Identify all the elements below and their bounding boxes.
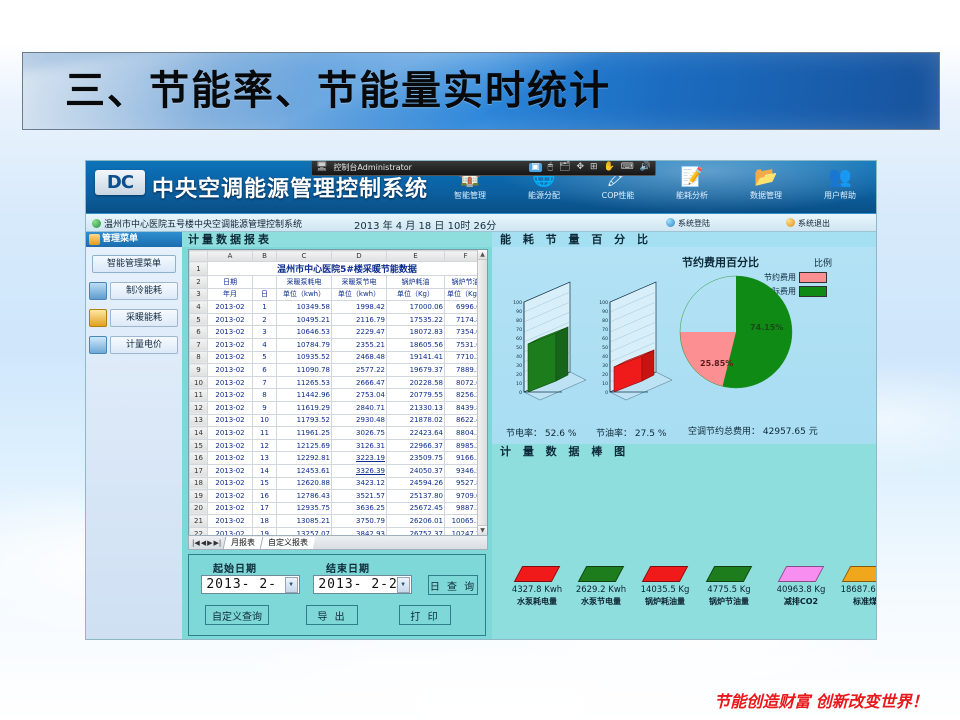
- row-header: 2: [190, 276, 208, 289]
- cell-boiler-oil[interactable]: 18072.83: [387, 326, 445, 339]
- bar-marker-icon: [578, 566, 625, 582]
- folder-globe-icon: 📂: [734, 164, 798, 190]
- svg-text:70: 70: [602, 327, 608, 333]
- table-row: 132013-021011793.522930.4821878.028622.4…: [190, 414, 487, 427]
- cell-boiler-oil[interactable]: 20779.55: [387, 389, 445, 402]
- svg-text:50: 50: [602, 345, 608, 351]
- header-cell: 单位（kwh）: [332, 288, 387, 301]
- cell-pump-power[interactable]: 11961.25: [277, 427, 332, 440]
- cell-pump-power[interactable]: 12935.75: [277, 502, 332, 515]
- cell-date[interactable]: 2013-02: [208, 439, 253, 452]
- move-icon[interactable]: ⊞: [590, 163, 598, 172]
- spreadsheet[interactable]: A B C D E F 1 温州市中心医院5#楼采暖节能数据 2: [188, 249, 488, 536]
- header-cell: 日: [253, 288, 277, 301]
- cell-date[interactable]: 2013-02: [208, 452, 253, 465]
- scroll-down-icon[interactable]: ▼: [478, 525, 487, 535]
- cell-pump-saving[interactable]: 2930.48: [332, 414, 387, 427]
- table-row: 82013-02510935.522468.4819141.417710.23: [190, 351, 487, 364]
- cell-day[interactable]: 7: [253, 376, 277, 389]
- nav-label: 用户帮助: [824, 191, 856, 200]
- nav-label: 能源分配: [528, 191, 560, 200]
- header-cell: 日期: [208, 276, 253, 289]
- percent-sign: %: [658, 429, 667, 439]
- query-controls: 起始日期 结束日期 2013- 2- 1 ▼ 2013- 2-28 ▼ 日 查 …: [188, 554, 486, 636]
- row-header: 6: [190, 326, 208, 339]
- header-cell: 采暖泵耗电: [277, 276, 332, 289]
- svg-text:80: 80: [602, 318, 608, 324]
- day-query-button[interactable]: 日 查 询: [428, 575, 478, 595]
- svg-text:100: 100: [599, 300, 608, 306]
- cell-date[interactable]: 2013-02: [208, 313, 253, 326]
- total-saving-unit: 元: [809, 427, 818, 437]
- svg-text:90: 90: [516, 309, 522, 315]
- cell-date[interactable]: 2013-02: [208, 414, 253, 427]
- start-date-input[interactable]: 2013- 2- 1 ▼: [201, 575, 300, 594]
- app-header: DC 中央空调能源管理控制系统 🏠 智能管理 🌐 能源分配 🖊 COP性能 📝: [86, 161, 876, 214]
- svg-text:30: 30: [516, 363, 522, 369]
- cell-boiler-oil[interactable]: 23509.75: [387, 452, 445, 465]
- cell-boiler-oil[interactable]: 22966.37: [387, 439, 445, 452]
- energy-percent-panel: 能 耗 节 量 百 分 比: [492, 232, 876, 445]
- cell-pump-saving[interactable]: 2753.04: [332, 389, 387, 402]
- sidebar-item-heating-consumption[interactable]: 采暖能耗: [89, 309, 178, 327]
- row-header: 10: [190, 376, 208, 389]
- console-toolbar[interactable]: 🖥 控制台Administrator ▣ 🖱 🗂 ✥ ⊞ ✋ ⌨ 🔊: [311, 160, 656, 176]
- cell-day[interactable]: 3: [253, 326, 277, 339]
- sidebar-item-label: 计量电价: [110, 336, 178, 354]
- cursor-icon[interactable]: ✥: [576, 163, 584, 172]
- column-header-row: A B C D E F: [190, 251, 487, 262]
- spreadsheet-rows: 42013-02110349.581998.4217000.066996.635…: [190, 301, 487, 536]
- row-header: 20: [190, 502, 208, 515]
- last-sheet-icon[interactable]: ▶|: [214, 539, 222, 547]
- table-row: 182013-021512620.883423.1224594.269527.8…: [190, 477, 487, 490]
- cell-day[interactable]: 16: [253, 490, 277, 503]
- table-row: 92013-02611090.782577.2219679.377889.55: [190, 364, 487, 377]
- keyboard-icon[interactable]: ⌨: [621, 163, 634, 172]
- header-cell: 年月: [208, 288, 253, 301]
- cell-pump-saving[interactable]: 3423.12: [332, 477, 387, 490]
- metric-6: 18687.6 Kg标准煤: [822, 566, 877, 607]
- system-logout-button[interactable]: 系统退出: [786, 218, 830, 229]
- cell-date[interactable]: 2013-02: [208, 490, 253, 503]
- cell-date[interactable]: 2013-02: [208, 515, 253, 528]
- row-header: 13: [190, 414, 208, 427]
- cell-boiler-oil[interactable]: 17000.06: [387, 301, 445, 314]
- next-sheet-icon[interactable]: ▶: [207, 539, 212, 547]
- charts-column: 能 耗 节 量 百 分 比: [492, 232, 876, 640]
- cell-day[interactable]: 8: [253, 389, 277, 402]
- corner-cell: [190, 251, 208, 262]
- row-header: 3: [190, 288, 208, 301]
- application-window: DC 中央空调能源管理控制系统 🏠 智能管理 🌐 能源分配 🖊 COP性能 📝: [85, 160, 877, 640]
- row-header: 14: [190, 427, 208, 440]
- cell-pump-saving[interactable]: 3126.31: [332, 439, 387, 452]
- bar-chart-electric-saving: 01020 304050 607080 90100: [506, 280, 586, 425]
- col-header-c[interactable]: C: [277, 251, 332, 262]
- start-date-label: 起始日期: [213, 560, 257, 575]
- cell-pump-saving[interactable]: 2840.71: [332, 401, 387, 414]
- cell-pump-power[interactable]: 10495.21: [277, 313, 332, 326]
- cell-date[interactable]: 2013-02: [208, 401, 253, 414]
- first-sheet-icon[interactable]: |◀: [192, 539, 200, 547]
- svg-text:50: 50: [516, 345, 522, 351]
- energy-percent-title: 能 耗 节 量 百 分 比: [492, 232, 876, 247]
- cell-pump-power[interactable]: 13085.21: [277, 515, 332, 528]
- table-row: 62013-02310646.532229.4718072.837354.04: [190, 326, 487, 339]
- pie-chart-svg: 74.15% 25.85%: [678, 274, 794, 390]
- cell-boiler-oil[interactable]: 24594.26: [387, 477, 445, 490]
- header-cell: [253, 276, 277, 289]
- sheet-tab-custom[interactable]: 自定义报表: [260, 537, 316, 549]
- footer-slogan: 节能创造财富 创新改变世界！: [690, 688, 952, 712]
- bar-marker-icon: [642, 566, 689, 582]
- cell-boiler-oil[interactable]: 17535.22: [387, 313, 445, 326]
- percent-sign: %: [568, 429, 577, 439]
- sidebar-item-intelligent-menu[interactable]: 智能管理菜单: [92, 255, 176, 273]
- cell-pump-saving[interactable]: 1998.42: [332, 301, 387, 314]
- bar-marker-icon: [706, 566, 753, 582]
- pie-value-actual: 74.15%: [750, 323, 783, 332]
- cell-date[interactable]: 2013-02: [208, 477, 253, 490]
- cell-pump-saving[interactable]: 3326.39: [332, 464, 387, 477]
- cell-boiler-oil[interactable]: 25137.80: [387, 490, 445, 503]
- cell-date[interactable]: 2013-02: [208, 351, 253, 364]
- sidebar-header: 管理菜单: [86, 232, 182, 247]
- cell-pump-power[interactable]: 10784.79: [277, 338, 332, 351]
- svg-text:100: 100: [513, 300, 522, 306]
- cell-pump-power[interactable]: 11265.53: [277, 376, 332, 389]
- cell-pump-saving[interactable]: 3750.79: [332, 515, 387, 528]
- users-icon: 👥: [808, 164, 872, 190]
- sidebar: 管理菜单 智能管理菜单 制冷能耗 采暖能耗 计量电价: [86, 232, 183, 640]
- cell-boiler-oil[interactable]: 21330.13: [387, 401, 445, 414]
- end-date-label: 结束日期: [326, 560, 370, 575]
- report-title: 计量数据报表: [182, 232, 492, 247]
- monitor-icon: 🖥: [316, 163, 327, 172]
- cell-pump-saving[interactable]: 2229.47: [332, 326, 387, 339]
- cell-date[interactable]: 2013-02: [208, 338, 253, 351]
- svg-text:80: 80: [516, 318, 522, 324]
- cell-pump-saving[interactable]: 3636.25: [332, 502, 387, 515]
- cell-boiler-oil[interactable]: 22423.64: [387, 427, 445, 440]
- slide-background: 三、节能率、节能量实时统计 DC 中央空调能源管理控制系统 🏠 智能管理 🌐 能…: [0, 0, 960, 720]
- row-header: 11: [190, 389, 208, 402]
- svg-text:40: 40: [516, 354, 522, 360]
- prev-sheet-icon[interactable]: ◀: [201, 539, 206, 547]
- cell-pump-power[interactable]: 10935.52: [277, 351, 332, 364]
- cell-pump-power[interactable]: 12453.61: [277, 464, 332, 477]
- bar-marker-icon: [842, 566, 877, 582]
- cell-day[interactable]: 1: [253, 301, 277, 314]
- bar-chart-electric-svg: 01020 304050 607080 90100: [506, 280, 586, 425]
- cell-date[interactable]: 2013-02: [208, 326, 253, 339]
- volume-icon[interactable]: 🔊: [640, 163, 651, 172]
- col-header-d[interactable]: D: [332, 251, 387, 262]
- cell-day[interactable]: 17: [253, 502, 277, 515]
- header-cell: 采暖泵节电: [332, 276, 387, 289]
- row-header: 21: [190, 515, 208, 528]
- nav-label: 数据管理: [750, 191, 782, 200]
- sheet-title-cell: 温州市中心医院5#楼采暖节能数据: [208, 262, 487, 276]
- row-header: 16: [190, 452, 208, 465]
- svg-text:60: 60: [602, 336, 608, 342]
- spreadsheet-grid: A B C D E F 1 温州市中心医院5#楼采暖节能数据 2: [189, 250, 487, 536]
- cell-boiler-oil[interactable]: 20228.58: [387, 376, 445, 389]
- svg-text:20: 20: [516, 372, 522, 378]
- cell-day[interactable]: 9: [253, 401, 277, 414]
- cell-pump-saving[interactable]: 2116.79: [332, 313, 387, 326]
- table-row: 1 温州市中心医院5#楼采暖节能数据: [190, 262, 487, 276]
- app-body: 管理菜单 智能管理菜单 制冷能耗 采暖能耗 计量电价 计量数据报表: [86, 232, 876, 640]
- cell-boiler-oil[interactable]: 24050.37: [387, 464, 445, 477]
- table-row: 212013-021813085.213750.7926206.0110065.…: [190, 515, 487, 528]
- electric-saving-readout: 节电率： 52.6 %: [506, 426, 576, 439]
- cell-pump-saving[interactable]: 2666.47: [332, 376, 387, 389]
- cell-date[interactable]: 2013-02: [208, 301, 253, 314]
- bar-chart-oil-saving: 01020 304050 607080 90100: [592, 280, 672, 425]
- heating-icon: [89, 309, 107, 327]
- cell-day[interactable]: 14: [253, 464, 277, 477]
- total-saving-readout: 空调节约总费用： 42957.65 元: [688, 424, 818, 437]
- dc-logo: DC: [95, 170, 145, 195]
- nav-item-user-help[interactable]: 👥 用户帮助: [808, 164, 872, 201]
- table-row: 122013-02911619.292840.7121330.138439.81: [190, 401, 487, 414]
- table-row: 192013-021612786.433521.5725137.809709.0…: [190, 490, 487, 503]
- row-header: 7: [190, 338, 208, 351]
- electric-saving-label: 节电率：: [506, 429, 542, 439]
- table-row: 52013-02210495.212116.7917535.227174.84: [190, 313, 487, 326]
- cell-day[interactable]: 13: [253, 452, 277, 465]
- cell-day[interactable]: 11: [253, 427, 277, 440]
- system-icon: [92, 219, 101, 228]
- pie-chart: 74.15% 25.85%: [678, 274, 794, 393]
- page-title: 三、节能率、节能量实时统计: [23, 53, 939, 129]
- end-date-input[interactable]: 2013- 2-28 ▼: [313, 575, 412, 594]
- cell-pump-power[interactable]: 11090.78: [277, 364, 332, 377]
- cell-date[interactable]: 2013-02: [208, 427, 253, 440]
- cell-pump-saving[interactable]: 3026.75: [332, 427, 387, 440]
- cell-day[interactable]: 2: [253, 313, 277, 326]
- cell-pump-power[interactable]: 12125.69: [277, 439, 332, 452]
- cell-pump-power[interactable]: 12786.43: [277, 490, 332, 503]
- cell-pump-saving[interactable]: 2468.48: [332, 351, 387, 364]
- cell-day[interactable]: 4: [253, 338, 277, 351]
- svg-text:40: 40: [602, 354, 608, 360]
- login-icon: [666, 218, 675, 227]
- nav-item-energy-analysis[interactable]: 📝 能耗分析: [660, 164, 724, 201]
- sidebar-item-label: 制冷能耗: [110, 282, 178, 300]
- meter-price-icon: [89, 336, 107, 354]
- pie-chart-title: 节约费用百分比: [682, 254, 759, 270]
- bar-marker-icon: [514, 566, 561, 582]
- electric-saving-value: 52.6: [545, 429, 565, 439]
- cell-pump-power[interactable]: 12620.88: [277, 477, 332, 490]
- cell-day[interactable]: 5: [253, 351, 277, 364]
- row-header: 12: [190, 401, 208, 414]
- sheet-nav-icons[interactable]: |◀ ◀ ▶ ▶|: [189, 539, 224, 547]
- sheet-tab-bar: |◀ ◀ ▶ ▶| 月报表 自定义报表: [188, 535, 488, 550]
- console-title: 控制台Administrator: [333, 162, 412, 173]
- table-row: 102013-02711265.532666.4720228.588072.62: [190, 376, 487, 389]
- sheet-tab-monthly[interactable]: 月报表: [223, 537, 263, 549]
- meter-bar-title: 计 量 数 据 棒 图: [492, 444, 876, 459]
- spreadsheet-scrollbar[interactable]: ▲ ▼: [477, 250, 487, 535]
- mouse-icon[interactable]: 🖱: [548, 163, 553, 172]
- table-row: 162013-021312292.813223.1923509.759166.3…: [190, 452, 487, 465]
- row-header: 5: [190, 313, 208, 326]
- slide-title-banner: 三、节能率、节能量实时统计: [22, 52, 940, 130]
- cell-day[interactable]: 6: [253, 364, 277, 377]
- oil-saving-value: 27.5: [635, 429, 655, 439]
- svg-text:60: 60: [516, 336, 522, 342]
- svg-text:10: 10: [602, 381, 608, 387]
- cell-day[interactable]: 12: [253, 439, 277, 452]
- pie-value-saved: 25.85%: [700, 359, 733, 368]
- status-strip: 温州市中心医院五号楼中央空调能源管理控制系统 2013 年 4 月 18 日 1…: [86, 214, 876, 232]
- logout-icon: [786, 218, 795, 227]
- cell-boiler-oil[interactable]: 19679.37: [387, 364, 445, 377]
- legend-swatch-actual: [799, 286, 827, 297]
- header-cell: 锅炉耗油: [387, 276, 445, 289]
- book-icon: [89, 234, 100, 245]
- screen-icon[interactable]: ▣: [529, 163, 542, 172]
- cell-pump-power[interactable]: 10349.58: [277, 301, 332, 314]
- cell-boiler-oil[interactable]: 18605.56: [387, 338, 445, 351]
- bar-marker-icon: [778, 566, 825, 582]
- system-name: 温州市中心医院五号楼中央空调能源管理控制系统: [92, 217, 302, 230]
- svg-text:20: 20: [602, 372, 608, 378]
- svg-text:30: 30: [602, 363, 608, 369]
- row-header: 4: [190, 301, 208, 314]
- nav-label: 能耗分析: [676, 191, 708, 200]
- svg-text:90: 90: [602, 309, 608, 315]
- col-header-a[interactable]: A: [208, 251, 253, 262]
- oil-saving-label: 节油率：: [596, 429, 632, 439]
- cell-boiler-oil[interactable]: 19141.41: [387, 351, 445, 364]
- cell-date[interactable]: 2013-02: [208, 389, 253, 402]
- cell-day[interactable]: 18: [253, 515, 277, 528]
- print-button[interactable]: 打 印: [399, 605, 451, 625]
- col-header-e[interactable]: E: [387, 251, 445, 262]
- legend-swatch-saved: [799, 272, 827, 283]
- metric-label: 标准煤: [822, 596, 877, 607]
- cell-pump-saving[interactable]: 3521.57: [332, 490, 387, 503]
- cell-date[interactable]: 2013-02: [208, 364, 253, 377]
- svg-text:10: 10: [516, 381, 522, 387]
- table-row: 2 日期 采暖泵耗电 采暖泵节电 锅炉耗油 锅炉节油: [190, 276, 487, 289]
- chevron-down-icon[interactable]: ▼: [397, 577, 410, 593]
- row-header: 1: [190, 262, 208, 276]
- row-header: 17: [190, 464, 208, 477]
- cell-boiler-oil[interactable]: 26206.01: [387, 515, 445, 528]
- metric-value: 18687.6 Kg: [822, 585, 877, 595]
- cell-pump-power[interactable]: 11442.96: [277, 389, 332, 402]
- cell-pump-power[interactable]: 10646.53: [277, 326, 332, 339]
- total-saving-label: 空调节约总费用：: [688, 427, 760, 437]
- bar-chart-oil-svg: 01020 304050 607080 90100: [592, 280, 672, 425]
- table-row: 202013-021712935.753636.2525672.459887.2…: [190, 502, 487, 515]
- meter-bar-panel: 计 量 数 据 棒 图 4327.8 Kwh水泵耗电量2629.2 Kwh水泵节…: [492, 444, 876, 640]
- header-cell: 单位（Kg）: [387, 288, 445, 301]
- cell-day[interactable]: 15: [253, 477, 277, 490]
- scroll-up-icon[interactable]: ▲: [478, 250, 487, 260]
- nav-item-data-management[interactable]: 📂 数据管理: [734, 164, 798, 201]
- table-row: 142013-021111961.253026.7522423.648804.3…: [190, 427, 487, 440]
- chevron-down-icon[interactable]: ▼: [285, 577, 298, 593]
- table-row: 42013-02110349.581998.4217000.066996.63: [190, 301, 487, 314]
- row-header: 19: [190, 490, 208, 503]
- row-header: 8: [190, 351, 208, 364]
- current-datetime: 2013 年 4 月 18 日 10时 26分: [354, 217, 496, 232]
- nav-label: 智能管理: [454, 191, 486, 200]
- export-button[interactable]: 导 出: [306, 605, 358, 625]
- cell-pump-power[interactable]: 11619.29: [277, 401, 332, 414]
- sidebar-item-label: 采暖能耗: [110, 309, 178, 327]
- cell-pump-power[interactable]: 11793.52: [277, 414, 332, 427]
- row-header: 9: [190, 364, 208, 377]
- header-cell: 单位（kwh）: [277, 288, 332, 301]
- system-login-button[interactable]: 系统登陆: [666, 218, 710, 229]
- cell-boiler-oil[interactable]: 21878.02: [387, 414, 445, 427]
- cell-boiler-oil[interactable]: 25672.45: [387, 502, 445, 515]
- custom-query-button[interactable]: 自定义查询: [205, 605, 269, 625]
- cell-pump-power[interactable]: 12292.81: [277, 452, 332, 465]
- svg-text:0: 0: [519, 390, 522, 396]
- folder-icon[interactable]: 🗂: [559, 163, 570, 172]
- cooling-icon: [89, 282, 107, 300]
- oil-saving-readout: 节油率： 27.5 %: [596, 426, 666, 439]
- nav-label: COP性能: [602, 191, 635, 200]
- row-header: 18: [190, 477, 208, 490]
- sidebar-item-cooling-consumption[interactable]: 制冷能耗: [89, 282, 178, 300]
- row-header: 15: [190, 439, 208, 452]
- table-row: 112013-02811442.962753.0420779.558256.28: [190, 389, 487, 402]
- pie-legend-title: 比例: [814, 256, 832, 269]
- cell-pump-saving[interactable]: 2355.21: [332, 338, 387, 351]
- cell-date[interactable]: 2013-02: [208, 502, 253, 515]
- total-saving-value: 42957.65: [763, 427, 806, 437]
- cell-pump-saving[interactable]: 2577.22: [332, 364, 387, 377]
- sidebar-item-meter-price[interactable]: 计量电价: [89, 336, 178, 354]
- cell-date[interactable]: 2013-02: [208, 464, 253, 477]
- table-row: 172013-021412453.613326.3924050.379346.5…: [190, 464, 487, 477]
- notebook-icon: 📝: [660, 164, 724, 190]
- cell-day[interactable]: 10: [253, 414, 277, 427]
- cell-date[interactable]: 2013-02: [208, 376, 253, 389]
- svg-text:70: 70: [516, 327, 522, 333]
- hand-icon[interactable]: ✋: [604, 163, 615, 172]
- table-row: 152013-021212125.693126.3122966.378985.2…: [190, 439, 487, 452]
- table-row: 72013-02410784.792355.2118605.567531.62: [190, 338, 487, 351]
- svg-text:0: 0: [605, 390, 608, 396]
- cell-pump-saving[interactable]: 3223.19: [332, 452, 387, 465]
- report-panel: 计量数据报表 A B C D E F 1: [182, 232, 492, 640]
- table-row: 3 年月 日 单位（kwh） 单位（kwh） 单位（Kg） 单位（Kg）: [190, 288, 487, 301]
- col-header-b[interactable]: B: [253, 251, 277, 262]
